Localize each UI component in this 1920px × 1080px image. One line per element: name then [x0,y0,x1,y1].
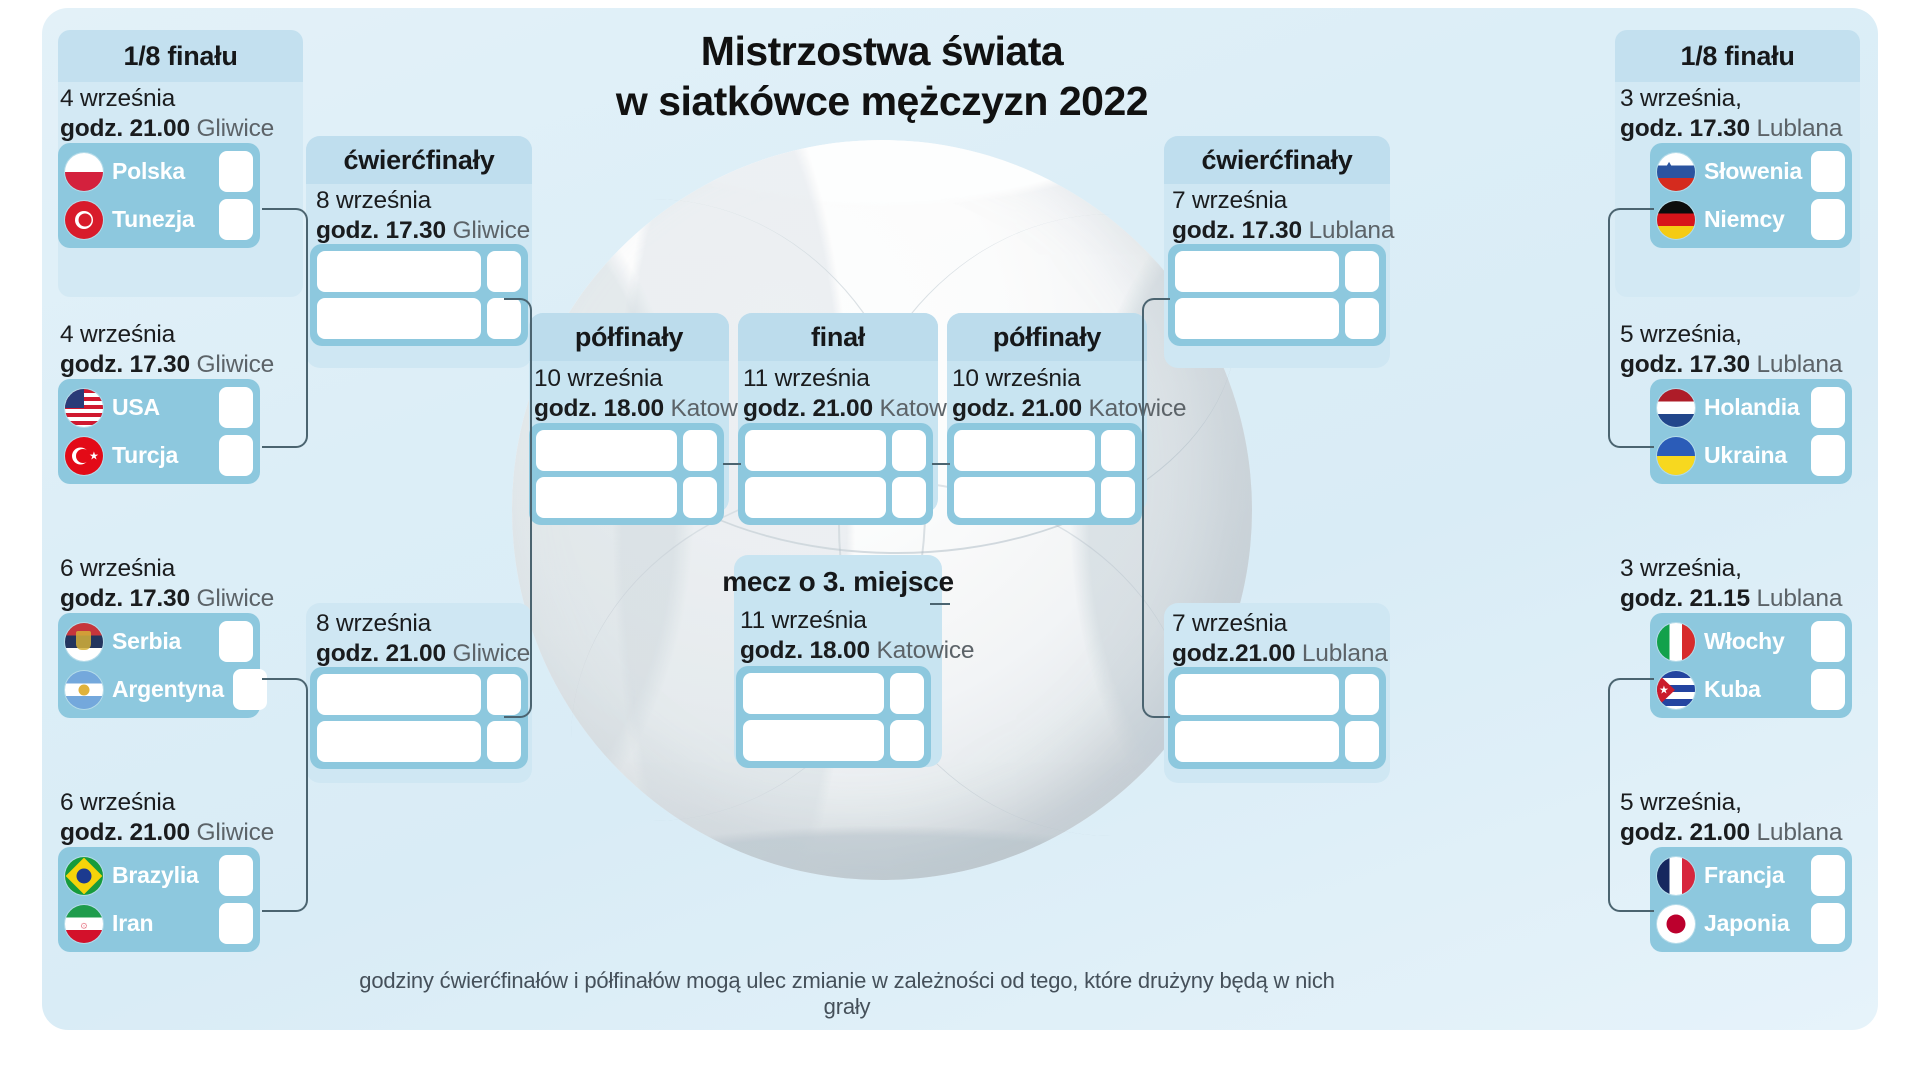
connector-third-place [930,603,950,605]
match-card-left-1[interactable]: Polska Tunezja [58,143,260,248]
flag-ua-icon [1657,437,1695,475]
flag-si-icon: ⛰ [1657,153,1695,191]
team-row: Niemcy [1657,198,1845,241]
score-box[interactable] [1811,855,1845,896]
score-box[interactable] [890,720,924,761]
team-row: ۞ Iran [65,902,253,945]
qf-meta-right-1: 7 września godz. 17.30 Lublana [1172,186,1394,245]
team-slot[interactable] [317,674,481,715]
match-meta-left-4: 6 września godz. 21.00 Gliwice [60,788,274,847]
header-round16-left: 1/8 finału [58,30,303,82]
flag-jp-icon [1657,905,1695,943]
team-name: Ukraina [1704,442,1802,469]
team-name: Włochy [1704,628,1802,655]
final-card[interactable] [738,423,933,525]
team-slot[interactable] [1175,298,1339,339]
connector-left-r16-3-4 [262,678,308,912]
score-box[interactable] [1101,430,1135,471]
team-row: Brazylia [65,854,253,897]
score-box[interactable] [1345,251,1379,292]
header-sf-right: półfinały [947,313,1147,361]
score-box[interactable] [1345,674,1379,715]
bracket-panel: Mistrzostwa świata w siatkówce mężczyzn … [42,8,1878,1030]
team-name: Serbia [112,628,210,655]
team-row: Polska [65,150,253,193]
flag-de-icon [1657,201,1695,239]
match-card-right-1[interactable]: ⛰ Słowenia Niemcy [1650,143,1852,248]
header-sf-left: półfinały [529,313,729,361]
score-box[interactable] [892,430,926,471]
team-row: Ukraina [1657,434,1845,477]
match-meta-left-3: 6 września godz. 17.30 Gliwice [60,554,274,613]
team-row: ⛰ Słowenia [1657,150,1845,193]
flag-nl-icon [1657,389,1695,427]
score-box[interactable] [219,387,253,428]
match-card-left-2[interactable]: USA ★ Turcja [58,379,260,484]
team-slot[interactable] [536,477,677,518]
team-row: Argentyna [65,668,253,711]
sf-left-card[interactable] [529,423,724,525]
header-final: finał [738,313,938,361]
sf-right-card[interactable] [947,423,1142,525]
team-name: USA [112,394,210,421]
team-row: USA [65,386,253,429]
team-name: Brazylia [112,862,210,889]
score-box[interactable] [1811,435,1845,476]
match-meta-right-3: 3 września, godz. 21.15 Lublana [1620,554,1842,613]
team-row: Tunezja [65,198,253,241]
team-row: Holandia [1657,386,1845,429]
team-slot[interactable] [1175,721,1339,762]
flag-rs-icon [65,623,103,661]
team-name: Iran [112,910,210,937]
team-name: Niemcy [1704,206,1802,233]
score-box[interactable] [219,621,253,662]
qf-left-1-card[interactable] [310,244,528,346]
team-slot[interactable] [745,477,886,518]
team-name: Polska [112,158,210,185]
team-row: Serbia [65,620,253,663]
team-name: Słowenia [1704,158,1802,185]
connector-sf-right-final [932,463,950,465]
connector-left-qf-sf [504,298,532,718]
score-box[interactable] [219,903,253,944]
flag-it-icon [1657,623,1695,661]
score-box[interactable] [1811,669,1845,710]
third-place-card[interactable] [736,666,931,768]
team-name: Argentyna [112,676,224,703]
team-row: ★ Kuba [1657,668,1845,711]
score-box[interactable] [219,435,253,476]
qf-meta-left-1: 8 września godz. 17.30 Gliwice [316,186,530,245]
sf-meta-left: 10 września godz. 18.00 Katowice [534,364,768,423]
match-card-right-4[interactable]: Francja Japonia [1650,847,1852,952]
flag-us-icon [65,389,103,427]
team-slot[interactable] [317,251,481,292]
team-slot[interactable] [1175,251,1339,292]
score-box[interactable] [1345,721,1379,762]
score-box[interactable] [1101,477,1135,518]
connector-right-r16-1-2 [1608,208,1654,448]
team-name: Holandia [1704,394,1802,421]
match-card-left-4[interactable]: Brazylia ۞ Iran [58,847,260,952]
team-slot[interactable] [745,430,886,471]
team-slot[interactable] [743,673,884,714]
third-place-meta: 11 września godz. 18.00 Katowice [740,606,974,665]
infographic-root: Mistrzostwa świata w siatkówce mężczyzn … [0,0,1920,1080]
qf-right-2-card[interactable] [1168,667,1386,769]
match-card-right-2[interactable]: Holandia Ukraina [1650,379,1852,484]
flag-tr-icon: ★ [65,437,103,475]
score-box[interactable] [1811,387,1845,428]
flag-fr-icon [1657,857,1695,895]
qf-left-2-card[interactable] [310,667,528,769]
score-box[interactable] [1345,298,1379,339]
team-name: Francja [1704,862,1802,889]
flag-pl-icon [65,153,103,191]
flag-tn-icon [65,201,103,239]
team-name: Kuba [1704,676,1802,703]
score-box[interactable] [219,151,253,192]
score-box[interactable] [892,477,926,518]
connector-sf-left-final [723,463,741,465]
team-name: Japonia [1704,910,1802,937]
flag-cu-icon: ★ [1657,671,1695,709]
score-box[interactable] [1811,903,1845,944]
team-slot[interactable] [743,720,884,761]
connector-right-r16-3-4 [1608,678,1654,912]
score-box[interactable] [1811,151,1845,192]
score-box[interactable] [219,855,253,896]
page-title-line1: Mistrzostwa świata [602,26,1162,76]
qf-right-1-card[interactable] [1168,244,1386,346]
flag-br-icon [65,857,103,895]
match-card-right-3[interactable]: Włochy ★ Kuba [1650,613,1852,718]
team-name: Tunezja [112,206,210,233]
team-slot[interactable] [536,430,677,471]
header-round16-right: 1/8 finału [1615,30,1860,82]
score-box[interactable] [1811,199,1845,240]
page-title-line2: w siatkówce mężczyzn 2022 [602,76,1162,126]
footnote: godziny ćwierćfinałów i półfinałów mogą … [342,968,1352,1020]
team-row: Francja [1657,854,1845,897]
team-slot[interactable] [1175,674,1339,715]
qf-meta-left-2: 8 września godz. 21.00 Gliwice [316,609,530,668]
match-meta-left-2: 4 września godz. 17.30 Gliwice [60,320,274,379]
match-meta-left-1: 4 września godz. 21.00 Gliwice [60,84,274,143]
header-third-place: mecz o 3. miejsce [698,561,978,603]
team-row: Włochy [1657,620,1845,663]
qf-meta-right-2: 7 września godz.21.00 Lublana [1172,609,1388,668]
score-box[interactable] [683,430,717,471]
score-box[interactable] [1811,621,1845,662]
team-row: Japonia [1657,902,1845,945]
team-slot[interactable] [954,477,1095,518]
connector-right-qf-sf [1142,298,1170,718]
team-name: Turcja [112,442,210,469]
connector-left-r16-1-2 [262,208,308,448]
flag-ar-icon [65,671,103,709]
score-box[interactable] [487,721,521,762]
team-slot[interactable] [954,430,1095,471]
score-box[interactable] [683,477,717,518]
score-box[interactable] [890,673,924,714]
header-qf-right: ćwierćfinały [1164,136,1390,184]
match-meta-right-1: 3 września, godz. 17.30 Lublana [1620,84,1842,143]
score-box[interactable] [219,199,253,240]
score-box[interactable] [487,251,521,292]
team-slot[interactable] [317,298,481,339]
team-row: ★ Turcja [65,434,253,477]
flag-ir-icon: ۞ [65,905,103,943]
team-slot[interactable] [317,721,481,762]
final-meta: 11 września godz. 21.00 Katowice [743,364,977,423]
header-qf-left: ćwierćfinały [306,136,532,184]
match-card-left-3[interactable]: Serbia Argentyna [58,613,260,718]
